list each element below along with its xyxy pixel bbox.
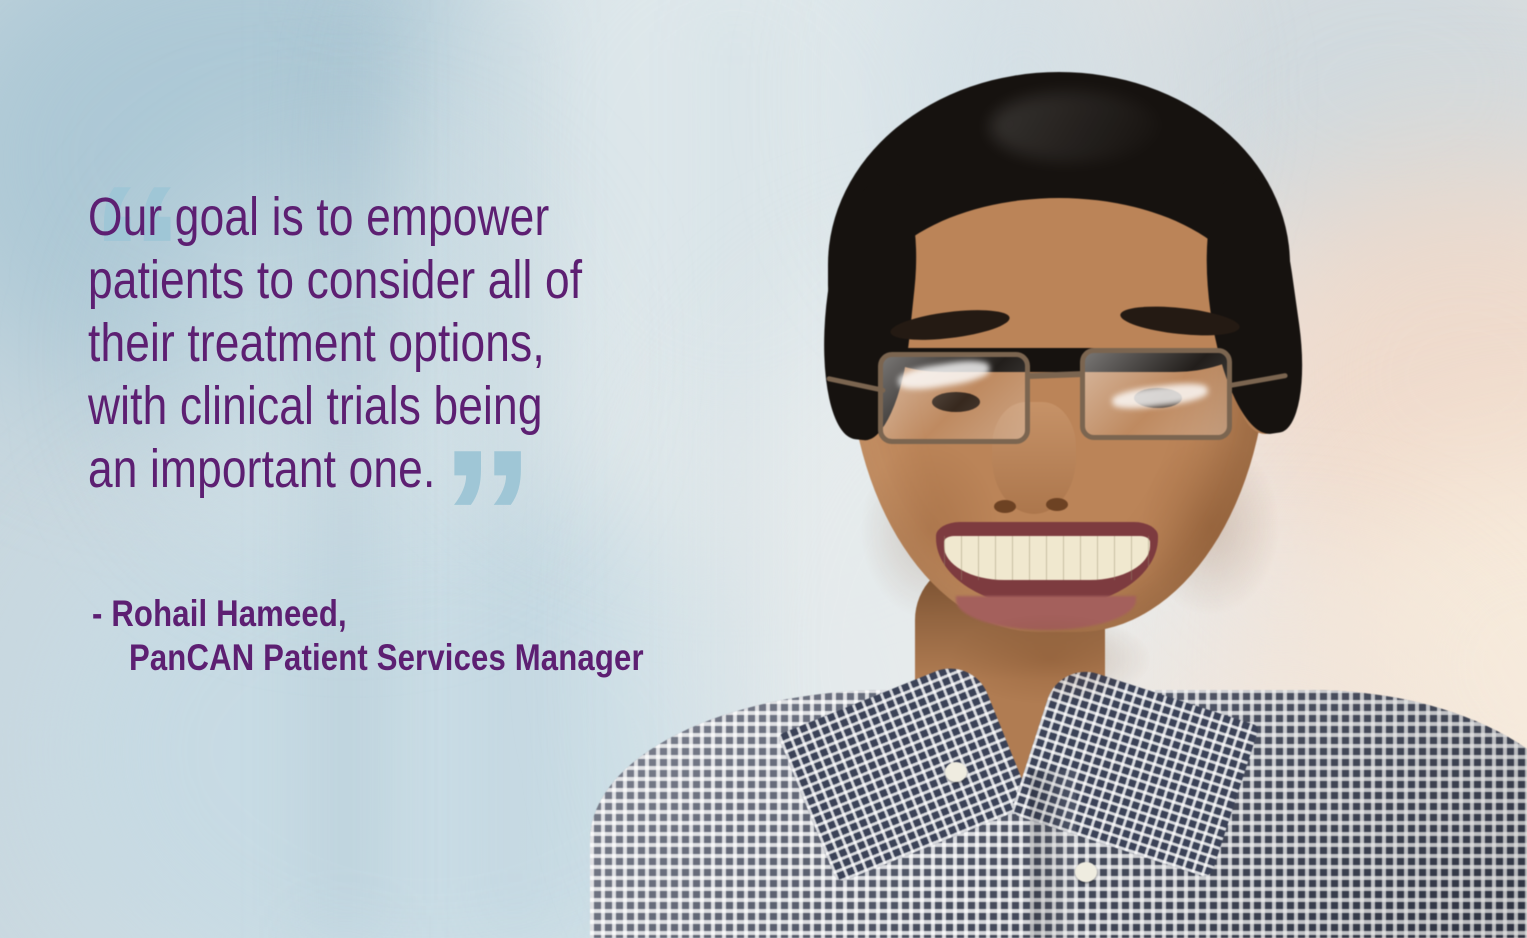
shirt-placket	[1030, 770, 1076, 938]
shirt-button-second	[1075, 862, 1097, 882]
quote-block: “ ” Our goal is to empower patients to c…	[88, 186, 788, 501]
quote-text: Our goal is to empower patients to consi…	[88, 186, 662, 501]
attribution-name: - Rohail Hameed,	[92, 592, 644, 636]
hair-highlight	[990, 92, 1160, 162]
teeth	[944, 536, 1150, 580]
attribution-title: PanCAN Patient Services Manager	[92, 636, 644, 680]
nostril-left	[994, 500, 1016, 513]
nostril-right	[1046, 498, 1068, 511]
chin-shadow	[950, 614, 1150, 704]
shirt-button-top	[945, 762, 967, 782]
attribution: - Rohail Hameed, PanCAN Patient Services…	[92, 592, 644, 680]
cheek-shadow-right	[1140, 436, 1280, 616]
testimonial-quote-card: “ ” Our goal is to empower patients to c…	[0, 0, 1527, 938]
